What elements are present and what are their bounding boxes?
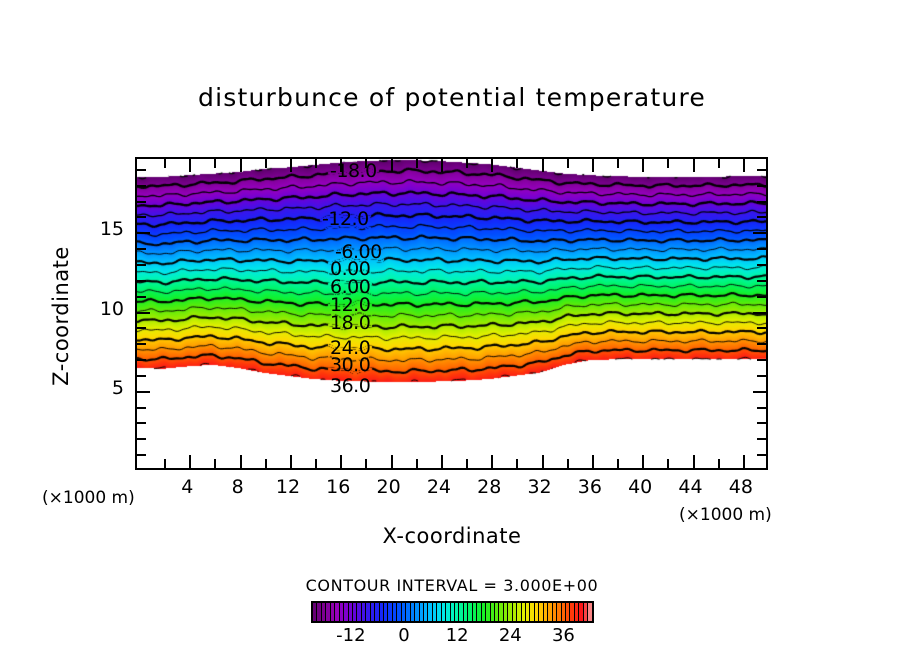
y-tick-left (137, 185, 146, 187)
x-tick-bottom (567, 459, 569, 468)
x-tick-bottom (240, 455, 242, 468)
x-tick-bottom (441, 455, 443, 468)
y-tick-right (757, 280, 766, 282)
x-tick-bottom (340, 455, 342, 468)
x-tick-top (542, 159, 544, 172)
y-tick-left (137, 391, 150, 393)
x-tick-top (466, 159, 468, 168)
y-tick-left (137, 359, 146, 361)
colorbar-tick-labels: -120122436 (311, 625, 594, 649)
x-tick-top (240, 159, 242, 172)
y-tick-right (757, 264, 766, 266)
x-tick-bottom (693, 455, 695, 468)
y-tick-left (137, 375, 146, 377)
x-tick-top (718, 159, 720, 168)
contour-value-label: 30.0 (330, 354, 370, 376)
y-tick-right (757, 327, 766, 329)
page-title: disturbunce of potential temperature (0, 83, 904, 112)
y-tick-right (757, 407, 766, 409)
y-tick-right (757, 201, 766, 203)
x-tick-bottom (642, 455, 644, 468)
x-tick-top (617, 159, 619, 168)
x-tick-top (491, 159, 493, 172)
contour-value-label: -12.0 (322, 208, 369, 230)
colorbar-tick-label: 24 (480, 625, 540, 646)
y-tick-right (757, 185, 766, 187)
y-tick-right (753, 312, 766, 314)
y-tick-left (137, 454, 146, 456)
colorbar-tick-label: 36 (533, 625, 593, 646)
plot-area (135, 157, 768, 470)
x-tick-top (416, 159, 418, 168)
x-tick-bottom (466, 459, 468, 468)
y-tick-left (137, 264, 146, 266)
x-tick-bottom (617, 459, 619, 468)
y-tick-right (757, 359, 766, 361)
x-tick-top (391, 159, 393, 172)
x-tick-top (164, 159, 166, 168)
x-tick-label: 48 (711, 476, 771, 498)
x-tick-top (315, 159, 317, 168)
x-tick-bottom (290, 455, 292, 468)
y-axis-unit-label: (×1000 m) (42, 488, 135, 508)
x-tick-bottom (189, 455, 191, 468)
contour-figure: disturbunce of potential temperature 481… (0, 0, 904, 654)
x-tick-bottom (592, 455, 594, 468)
y-tick-label: 15 (64, 218, 124, 240)
y-tick-right (753, 391, 766, 393)
x-tick-top (743, 159, 745, 172)
y-tick-left (137, 169, 146, 171)
x-tick-bottom (667, 459, 669, 468)
contour-field (137, 159, 766, 468)
y-tick-right (757, 169, 766, 171)
contour-value-label: 36.0 (330, 375, 370, 397)
y-tick-right (757, 216, 766, 218)
x-tick-bottom (743, 455, 745, 468)
x-tick-top (516, 159, 518, 168)
x-tick-top (441, 159, 443, 172)
x-axis-unit-label: (×1000 m) (679, 505, 772, 525)
y-tick-right (757, 375, 766, 377)
colorbar-tick-label: -12 (321, 625, 381, 646)
y-axis-title: Z-coordinate (49, 216, 73, 416)
contour-value-label: 18.0 (330, 312, 370, 334)
x-tick-bottom (542, 455, 544, 468)
y-tick-left (137, 343, 146, 345)
y-tick-right (757, 454, 766, 456)
x-tick-top (214, 159, 216, 168)
y-tick-right (757, 343, 766, 345)
x-tick-top (693, 159, 695, 172)
x-axis-title: X-coordinate (0, 524, 904, 548)
y-tick-right (757, 422, 766, 424)
x-tick-top (642, 159, 644, 172)
x-tick-top (265, 159, 267, 168)
x-tick-top (189, 159, 191, 172)
x-tick-bottom (491, 455, 493, 468)
x-tick-bottom (265, 459, 267, 468)
colorbar-tick-label: 0 (374, 625, 434, 646)
y-tick-left (137, 201, 146, 203)
x-tick-bottom (718, 459, 720, 468)
y-tick-left (137, 422, 146, 424)
y-tick-left (137, 312, 150, 314)
x-tick-top (592, 159, 594, 172)
y-tick-left (137, 280, 146, 282)
x-tick-top (290, 159, 292, 172)
y-tick-label: 5 (64, 377, 124, 399)
y-tick-right (753, 232, 766, 234)
y-tick-left (137, 232, 150, 234)
contour-value-label: -18.0 (330, 160, 377, 182)
x-tick-bottom (214, 459, 216, 468)
y-tick-right (757, 438, 766, 440)
x-tick-bottom (365, 459, 367, 468)
y-tick-left (137, 296, 146, 298)
y-tick-right (757, 296, 766, 298)
x-tick-bottom (416, 459, 418, 468)
y-tick-right (757, 248, 766, 250)
y-tick-left (137, 438, 146, 440)
y-tick-left (137, 327, 146, 329)
colorbar-cell (588, 603, 591, 621)
y-tick-left (137, 248, 146, 250)
x-tick-top (567, 159, 569, 168)
contour-interval-caption: CONTOUR INTERVAL = 3.000E+00 (0, 576, 904, 595)
x-tick-bottom (315, 459, 317, 468)
x-tick-bottom (164, 459, 166, 468)
colorbar-tick-label: 12 (427, 625, 487, 646)
colorbar (311, 601, 594, 623)
x-tick-top (667, 159, 669, 168)
x-tick-bottom (391, 455, 393, 468)
y-tick-left (137, 407, 146, 409)
x-tick-bottom (516, 459, 518, 468)
y-tick-label: 10 (64, 298, 124, 320)
y-tick-left (137, 216, 146, 218)
